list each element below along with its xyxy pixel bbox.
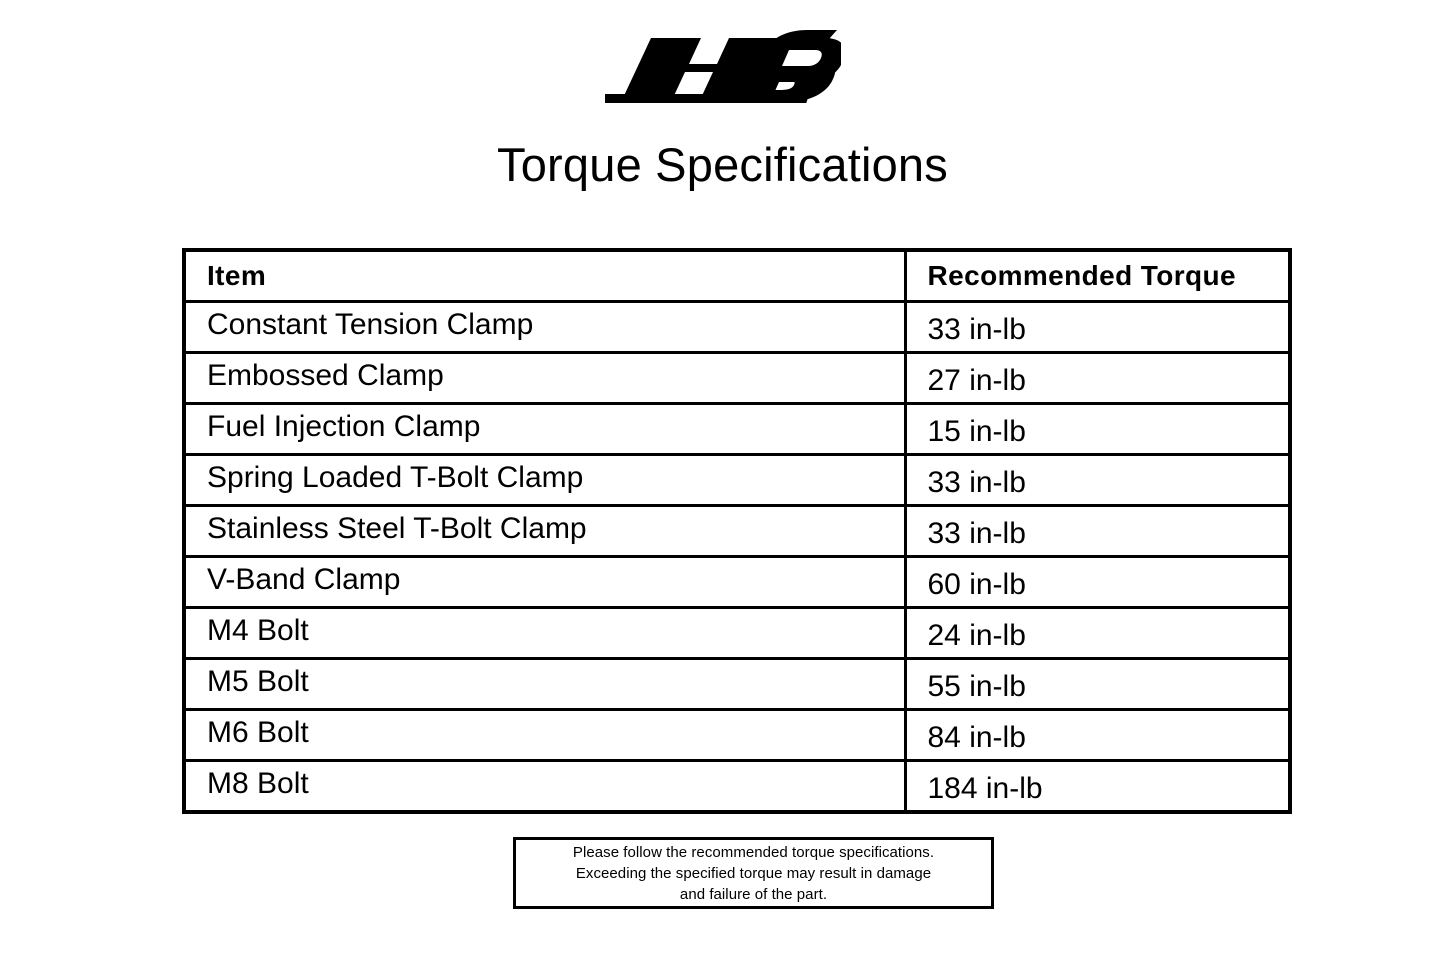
torque-spec-table: Item Recommended Torque Constant Tension… — [182, 248, 1292, 814]
torque-value: 33 in-lb — [928, 517, 1289, 551]
page-title: Torque Specifications — [0, 134, 1445, 196]
cell-torque: 33 in-lb — [905, 506, 1290, 557]
table-header-row: Item Recommended Torque — [184, 250, 1290, 302]
item-label: V-Band Clamp — [207, 563, 904, 597]
torque-spec-table-container: Item Recommended Torque Constant Tension… — [182, 248, 1288, 814]
table-row: M5 Bolt 55 in-lb — [184, 659, 1290, 710]
table-row: M8 Bolt 184 in-lb — [184, 761, 1290, 813]
item-label: Fuel Injection Clamp — [207, 410, 904, 444]
table-row: M6 Bolt 84 in-lb — [184, 710, 1290, 761]
table-row: Constant Tension Clamp 33 in-lb — [184, 302, 1290, 353]
item-label: M5 Bolt — [207, 665, 904, 699]
cell-item: Stainless Steel T-Bolt Clamp — [184, 506, 905, 557]
item-label: Embossed Clamp — [207, 359, 904, 393]
table-body: Constant Tension Clamp 33 in-lb Embossed… — [184, 302, 1290, 813]
cell-item: Spring Loaded T-Bolt Clamp — [184, 455, 905, 506]
torque-value: 33 in-lb — [928, 313, 1289, 347]
item-label: Stainless Steel T-Bolt Clamp — [207, 512, 904, 546]
column-header-item-label: Item — [207, 259, 904, 293]
footer-note-line: Exceeding the specified torque may resul… — [576, 863, 931, 884]
item-label: M8 Bolt — [207, 767, 904, 801]
item-label: Spring Loaded T-Bolt Clamp — [207, 461, 904, 495]
torque-value: 24 in-lb — [928, 619, 1289, 653]
cell-item: Embossed Clamp — [184, 353, 905, 404]
cell-item: M6 Bolt — [184, 710, 905, 761]
item-label: M6 Bolt — [207, 716, 904, 750]
torque-value: 60 in-lb — [928, 568, 1289, 602]
footer-warning-box: Please follow the recommended torque spe… — [513, 837, 994, 909]
table-row: Fuel Injection Clamp 15 in-lb — [184, 404, 1290, 455]
torque-value: 15 in-lb — [928, 415, 1289, 449]
cell-item: M5 Bolt — [184, 659, 905, 710]
cell-item: Constant Tension Clamp — [184, 302, 905, 353]
torque-value: 184 in-lb — [928, 772, 1289, 806]
cell-item: M8 Bolt — [184, 761, 905, 813]
torque-value: 84 in-lb — [928, 721, 1289, 755]
cell-torque: 24 in-lb — [905, 608, 1290, 659]
brand-logo-block — [0, 30, 1445, 112]
torque-value: 27 in-lb — [928, 364, 1289, 398]
cell-torque: 27 in-lb — [905, 353, 1290, 404]
cell-torque: 184 in-lb — [905, 761, 1290, 813]
column-header-torque: Recommended Torque — [905, 250, 1290, 302]
cell-torque: 84 in-lb — [905, 710, 1290, 761]
cell-item: Fuel Injection Clamp — [184, 404, 905, 455]
column-header-item: Item — [184, 250, 905, 302]
table-row: V-Band Clamp 60 in-lb — [184, 557, 1290, 608]
cell-torque: 55 in-lb — [905, 659, 1290, 710]
cell-torque: 60 in-lb — [905, 557, 1290, 608]
table-row: M4 Bolt 24 in-lb — [184, 608, 1290, 659]
table-row: Embossed Clamp 27 in-lb — [184, 353, 1290, 404]
footer-note-line: Please follow the recommended torque spe… — [573, 842, 934, 863]
torque-value: 55 in-lb — [928, 670, 1289, 704]
item-label: Constant Tension Clamp — [207, 308, 904, 342]
cell-torque: 33 in-lb — [905, 302, 1290, 353]
cell-torque: 15 in-lb — [905, 404, 1290, 455]
item-label: M4 Bolt — [207, 614, 904, 648]
hps-logo — [605, 30, 841, 110]
footer-note-line: and failure of the part. — [680, 884, 827, 905]
table-row: Spring Loaded T-Bolt Clamp 33 in-lb — [184, 455, 1290, 506]
cell-item: V-Band Clamp — [184, 557, 905, 608]
table-row: Stainless Steel T-Bolt Clamp 33 in-lb — [184, 506, 1290, 557]
cell-item: M4 Bolt — [184, 608, 905, 659]
torque-value: 33 in-lb — [928, 466, 1289, 500]
column-header-torque-label: Recommended Torque — [928, 259, 1289, 293]
cell-torque: 33 in-lb — [905, 455, 1290, 506]
